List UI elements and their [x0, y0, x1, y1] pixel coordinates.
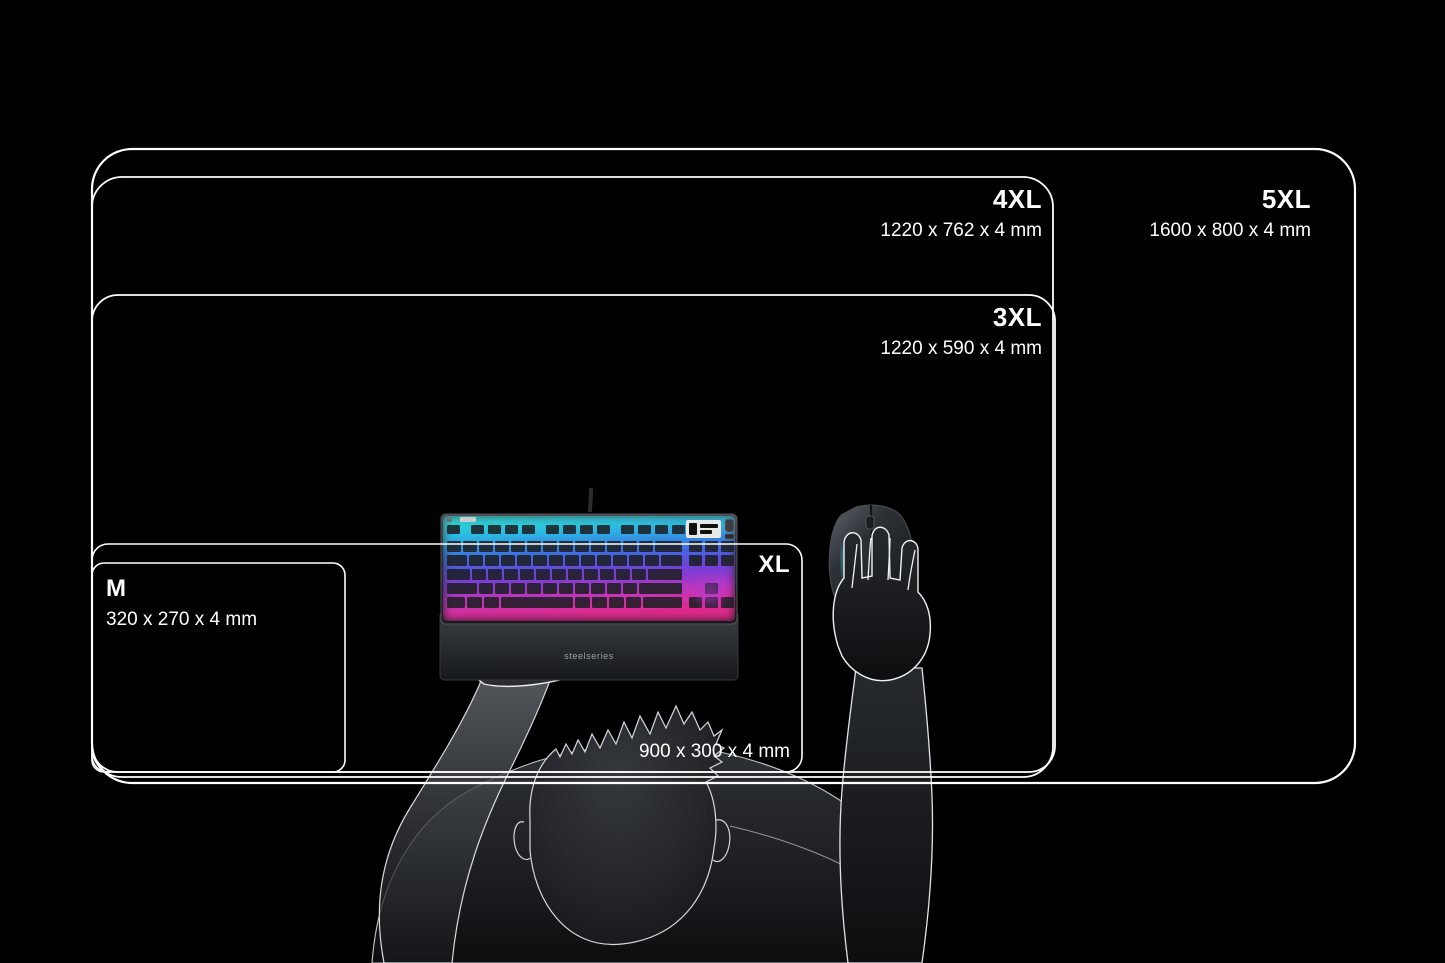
- pad-label-xl-name: XL: [560, 553, 790, 577]
- pad-label-5xl-name: 5XL: [1055, 186, 1311, 212]
- pad-label-4xl-name: 4XL: [786, 186, 1042, 212]
- right-arm: [833, 527, 932, 963]
- arrow-cluster-glow: [697, 579, 723, 605]
- gaming-keyboard: steelseries: [440, 488, 738, 680]
- pad-label-3xl-dims: 1220 x 590 x 4 mm: [786, 339, 1042, 358]
- devices-and-figure-layer: steelseries: [0, 0, 1445, 963]
- pad-label-m-name: M: [106, 577, 346, 601]
- pad-label-4xl-dims: 1220 x 762 x 4 mm: [786, 221, 1042, 240]
- right-hand: [833, 527, 930, 680]
- pad-label-xl: XL: [560, 553, 790, 577]
- pad-label-3xl-name: 3XL: [786, 304, 1042, 330]
- mousepad-size-comparison-scene: steelseries: [0, 0, 1445, 963]
- wrist-rest-brand-text: steelseries: [564, 651, 614, 661]
- pad-label-3xl: 3XL 1220 x 590 x 4 mm: [786, 304, 1042, 358]
- volume-wheel: [725, 519, 734, 532]
- pad-label-5xl-dims: 1600 x 800 x 4 mm: [1055, 221, 1311, 240]
- pad-label-m: M 320 x 270 x 4 mm: [106, 577, 346, 629]
- oled-bar-2: [700, 530, 712, 534]
- pad-label-m-dims: 320 x 270 x 4 mm: [106, 610, 346, 629]
- pad-label-xl-dims-group: 900 x 300 x 4 mm: [560, 742, 790, 761]
- oled-icon: [689, 523, 697, 535]
- oled-bar-1: [700, 524, 718, 528]
- pad-label-5xl: 5XL 1600 x 800 x 4 mm: [1055, 186, 1311, 240]
- scroll-wheel: [866, 516, 874, 529]
- keyboard-cable: [590, 488, 591, 512]
- right-forearm: [840, 668, 933, 963]
- kb-logo-plate: [460, 517, 476, 522]
- kb-indicator-led: [447, 518, 452, 522]
- media-button: [725, 534, 734, 539]
- pad-label-4xl: 4XL 1220 x 762 x 4 mm: [786, 186, 1042, 240]
- pad-label-xl-dims: 900 x 300 x 4 mm: [560, 742, 790, 761]
